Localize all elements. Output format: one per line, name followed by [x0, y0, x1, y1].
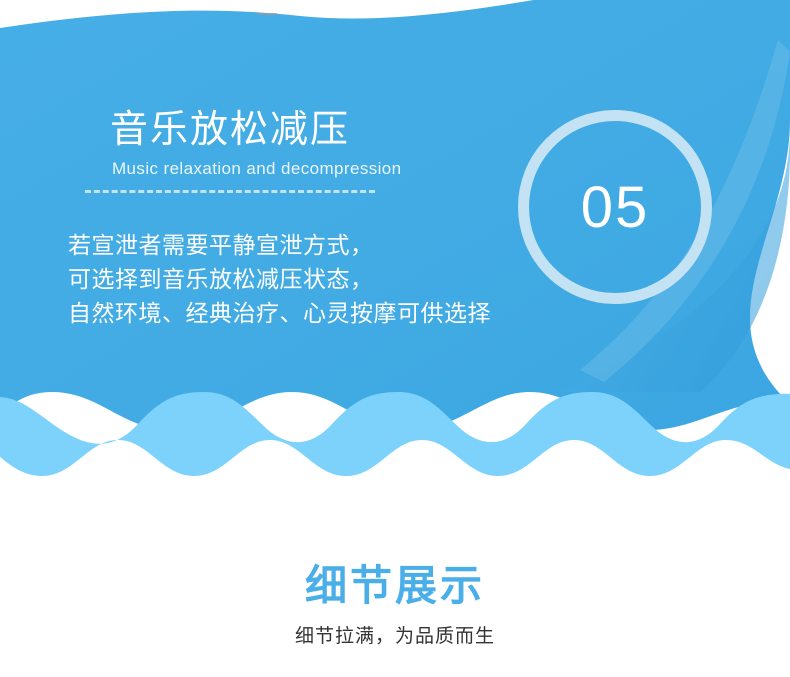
detail-showcase-subheading: 细节拉满，为品质而生 — [0, 624, 790, 650]
page-root: 音乐放松减压 Music relaxation and decompressio… — [0, 0, 790, 677]
scan-artifact — [258, 13, 277, 15]
step-number-label: 05 — [518, 110, 712, 304]
detail-showcase-section: 细节展示 细节拉满，为品质而生 — [0, 500, 790, 677]
detail-showcase-heading: 细节展示 — [0, 562, 790, 610]
